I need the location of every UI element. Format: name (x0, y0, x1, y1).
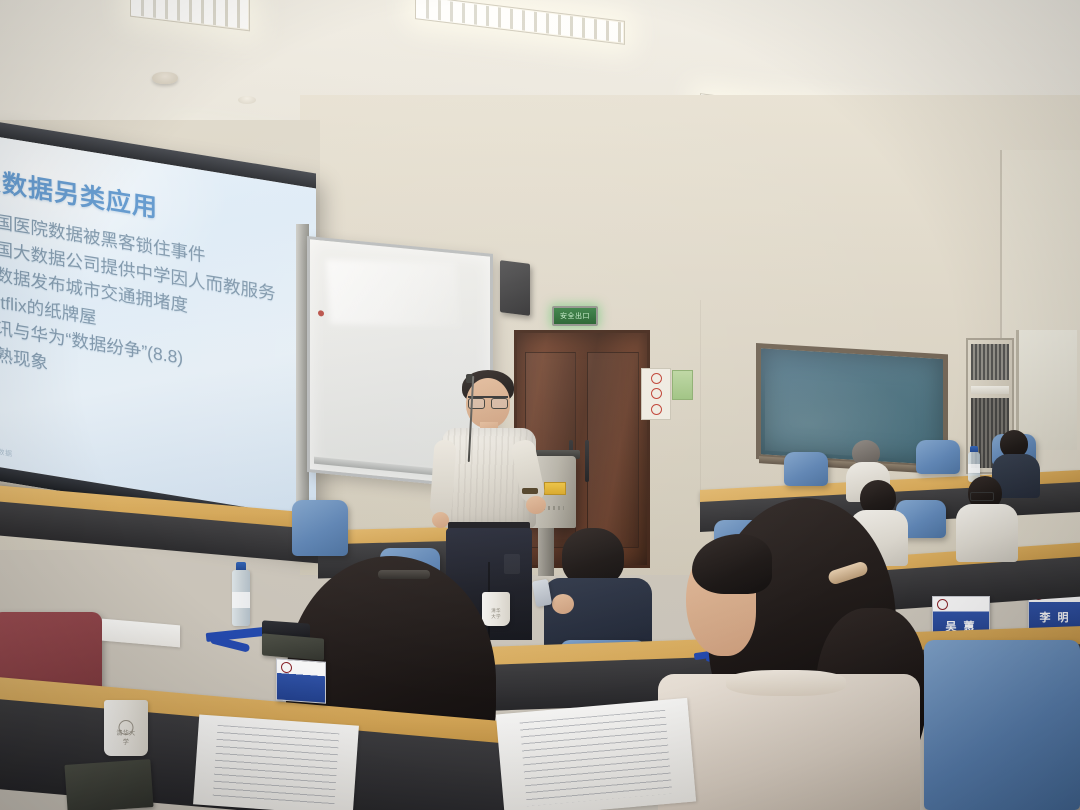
exit-sign: 安全出口 (552, 306, 598, 326)
glasses-icon (970, 492, 994, 501)
wall-notice-sign (641, 368, 671, 420)
whiteboard-glare (326, 259, 460, 327)
chalkboard-dust (765, 353, 939, 461)
exit-sign-label: 安全出口 (560, 311, 590, 321)
cup-logo-mark (119, 720, 134, 735)
water-bottle-left[interactable] (232, 570, 250, 626)
paper-cup-foreground[interactable]: 清华大学 (104, 700, 148, 756)
slide-footer-mark: 大数据 (0, 446, 13, 460)
presentation-slide: 大数据另类应用 美国医院数据被黑客锁住事件 美国大数据公司提供中学因人而教服务 … (0, 135, 316, 518)
chair-foreground-right[interactable] (924, 640, 1080, 810)
wall-seam-2 (700, 300, 701, 490)
whiteboard-magnet (318, 310, 324, 317)
right-hand (526, 496, 546, 514)
hair-clip (378, 570, 430, 579)
smoke-detector-icon (152, 72, 178, 84)
open-book-right-page[interactable] (193, 715, 359, 810)
hand (552, 594, 574, 614)
ac-vent-panel (971, 386, 1009, 394)
notebook-left[interactable] (262, 633, 324, 660)
open-document-foreground[interactable] (496, 698, 696, 810)
classroom-photo: 大数据另类应用 美国医院数据被黑客锁住事件 美国大数据公司提供中学因人而教服务 … (0, 0, 1080, 810)
right-window (1016, 330, 1077, 450)
collar (726, 670, 846, 696)
glasses-icon (468, 396, 508, 406)
green-wall-sticker (672, 370, 693, 400)
chair[interactable] (292, 500, 348, 556)
notebook-foreground[interactable] (64, 759, 153, 810)
wall-speaker (500, 260, 530, 316)
left-hand (432, 512, 449, 528)
name-placard-left (276, 658, 326, 703)
chair[interactable] (916, 440, 960, 474)
sprinkler-icon (238, 96, 256, 104)
paper-cup[interactable]: 清华大学 (482, 592, 510, 626)
cup-logo-text: 清华大学 (489, 608, 503, 620)
projection-screen: 大数据另类应用 美国医院数据被黑客锁住事件 美国大数据公司提供中学因人而教服务 … (0, 120, 316, 548)
chair[interactable] (784, 452, 828, 486)
paper-on-desk[interactable] (102, 619, 180, 648)
torso (956, 504, 1018, 562)
wristwatch (522, 488, 538, 494)
ac-grille-top (971, 344, 1009, 380)
